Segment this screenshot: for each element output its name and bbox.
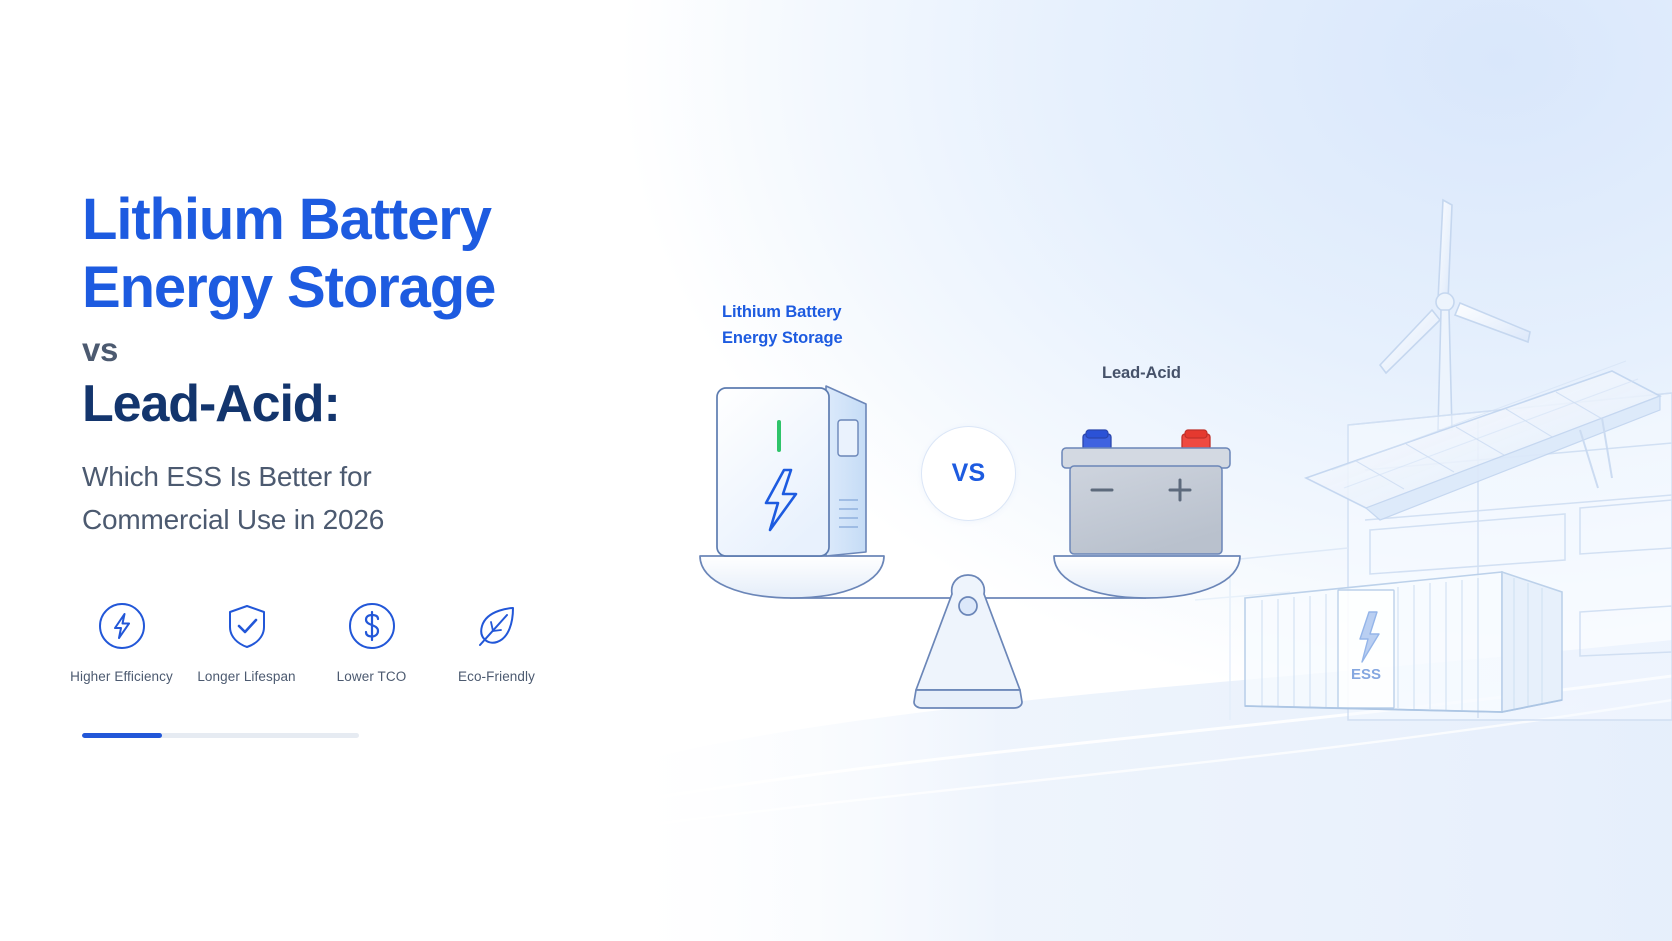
headline-line-3: Lead-Acid: [82,374,642,434]
lead-acid-side-label: Lead-Acid [1102,364,1181,383]
leaf-icon [471,600,523,652]
lightning-bolt-circle-icon [96,600,148,652]
ess-container-label: ESS [1351,666,1381,683]
lead-acid-battery-illustration [1062,430,1230,554]
solar-panel-icon [1306,361,1660,520]
feature-item-longer-lifespan[interactable]: Longer Lifespan [195,600,298,684]
plus-symbol [1170,480,1190,500]
scale-pan-left [700,556,884,598]
page-title: Lithium Battery Energy Storage vs Lead-A… [82,186,642,434]
lithium-side-label: Lithium Battery Energy Storage [722,300,843,351]
lithium-label-line-1: Lithium Battery [722,303,842,321]
versus-badge: VS [921,426,1016,521]
wind-turbine-icon [1380,200,1530,430]
battery-terminal-negative [1083,434,1111,450]
feature-label: Higher Efficiency [70,669,173,684]
lithium-battery-unit-illustration [717,386,866,556]
subtitle-line-1: Which ESS Is Better for [82,461,372,492]
headline-line-2: Energy Storage [82,254,642,322]
progress-bar-track[interactable] [82,733,359,738]
battery-terminal-positive [1182,434,1210,450]
lithium-unit-body [717,388,829,556]
green-status-led [777,420,781,452]
progress-bar-fill [82,733,162,738]
shield-check-icon [221,600,273,652]
subtitle-line-2: Commercial Use in 2026 [82,504,384,535]
hero-text-block: Lithium Battery Energy Storage vs Lead-A… [82,186,642,541]
dollar-circle-icon [346,600,398,652]
feature-item-higher-efficiency[interactable]: Higher Efficiency [70,600,173,684]
headline-line-1: Lithium Battery [82,187,491,252]
scale-fulcrum [914,575,1022,708]
factory-building [1195,393,1672,720]
feature-list: Higher Efficiency Longer Lifespan Lower … [70,600,570,684]
feature-label: Longer Lifespan [197,669,295,684]
lead-acid-body [1070,466,1222,554]
ess-container-illustration: ESS [1245,572,1562,712]
bottom-wave-decoration [640,640,1672,941]
versus-word: vs [82,331,642,370]
feature-label: Lower TCO [337,669,407,684]
lightning-bolt-icon [766,470,796,530]
feature-item-lower-tco[interactable]: Lower TCO [320,600,423,684]
lithium-label-line-2: Energy Storage [722,329,843,347]
page-subtitle: Which ESS Is Better for Commercial Use i… [82,456,512,541]
feature-item-eco-friendly[interactable]: Eco-Friendly [445,600,548,684]
poster-canvas: ESS [0,0,1672,941]
scale-pan-right [1054,556,1240,598]
feature-label: Eco-Friendly [458,669,535,684]
